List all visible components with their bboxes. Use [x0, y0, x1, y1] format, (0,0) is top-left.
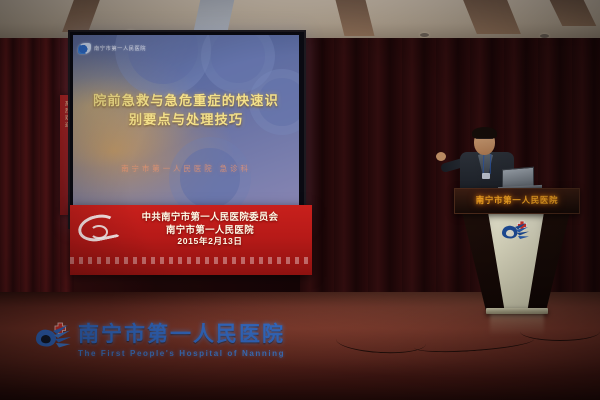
banner-bottom-strip	[70, 257, 312, 264]
watermark-chinese: 南宁市第一人民医院	[78, 318, 288, 348]
ceiling-beam	[463, 0, 521, 34]
lanyard-icon	[483, 154, 492, 174]
ceiling-beam	[62, 0, 100, 32]
slide-logo-label: 南宁市第一人民医院	[94, 45, 146, 52]
banner-line-2: 南宁市第一人民医院	[110, 224, 310, 237]
event-banner-text: 中共南宁市第一人民医院委员会 南宁市第一人民医院 2015年2月13日	[110, 211, 310, 248]
projection-screen: 南宁市第一人民医院 院前急救与急危重症的快速识 别要点与处理技巧 南宁市第一人民…	[68, 30, 306, 229]
podium-floor-reflection	[490, 314, 544, 336]
podium: 南宁市第一人民医院	[440, 188, 592, 324]
hospital-logo-svg	[498, 218, 534, 244]
photo-scene: 热烈欢迎 南宁市第一人民医院 院前急救与急危重症的快速识 别要点与处理技巧 南宁…	[0, 0, 600, 400]
event-banner: 中共南宁市第一人民医院委员会 南宁市第一人民医院 2015年2月13日	[70, 205, 312, 275]
podium-nameplate-text: 南宁市第一人民医院	[455, 194, 579, 206]
podium-hospital-logo	[498, 218, 534, 244]
hospital-logo-icon	[78, 43, 91, 54]
watermark: 南宁市第一人民医院 The First People's Hospital of…	[34, 316, 290, 364]
presentation-slide: 南宁市第一人民医院 院前急救与急危重症的快速识 别要点与处理技巧 南宁市第一人民…	[73, 35, 299, 222]
banner-line-1: 中共南宁市第一人民医院委员会	[110, 211, 310, 224]
banner-line-3: 2015年2月13日	[110, 236, 310, 248]
watermark-text: 南宁市第一人民医院 The First People's Hospital of…	[78, 318, 288, 358]
ceiling-beam	[550, 0, 597, 26]
watermark-logo-icon	[34, 322, 74, 354]
presenter-hand	[436, 152, 446, 161]
podium-nameplate: 南宁市第一人民医院	[454, 188, 580, 214]
slide-title: 院前急救与急危重症的快速识 别要点与处理技巧	[73, 91, 299, 129]
slide-title-line1: 院前急救与急危重症的快速识	[73, 91, 299, 110]
ceiling-beam	[336, 0, 375, 36]
watermark-logo-svg	[34, 322, 74, 354]
slide-subtitle: 南宁市第一人民医院 急诊科	[73, 163, 299, 174]
watermark-english: The First People's Hospital of Nanning	[78, 349, 288, 358]
downlight-icon	[420, 33, 429, 37]
slide-hospital-logo: 南宁市第一人民医院	[78, 43, 146, 54]
slide-title-line2: 别要点与处理技巧	[73, 110, 299, 129]
glasses-icon	[476, 138, 493, 143]
id-badge	[482, 173, 490, 179]
